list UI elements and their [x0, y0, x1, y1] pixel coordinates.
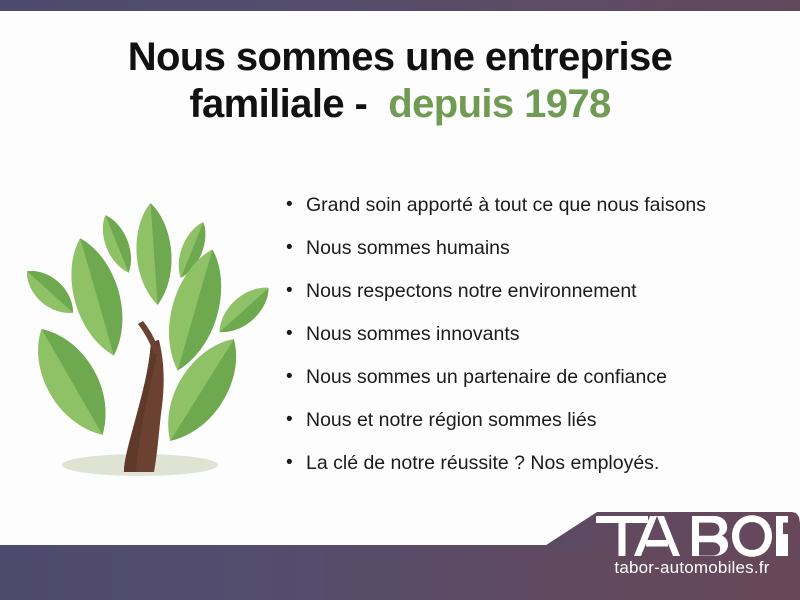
slide: Nous sommes une entreprise familiale - d…: [0, 0, 800, 600]
list-item-label: Grand soin apporté à tout ce que nous fa…: [306, 192, 706, 218]
title-dash: -: [344, 82, 378, 126]
title-line-2: familiale - depuis 1978: [0, 81, 800, 128]
bullet-marker-icon: •: [286, 192, 306, 218]
bullet-marker-icon: •: [286, 235, 306, 261]
leaf-top-center: [133, 202, 175, 306]
list-item: • Grand soin apporté à tout ce que nous …: [286, 192, 756, 235]
bullet-marker-icon: •: [286, 321, 306, 347]
list-item: • Nous sommes humains: [286, 235, 756, 278]
list-item: • Nous et notre région sommes liés: [286, 407, 756, 450]
bullet-list: • Grand soin apporté à tout ce que nous …: [286, 192, 756, 493]
title-line-1: Nous sommes une entreprise: [0, 34, 800, 81]
list-item-label: Nous et notre région sommes liés: [306, 407, 596, 433]
bullet-marker-icon: •: [286, 278, 306, 304]
list-item-label: Nous respectons notre environnement: [306, 278, 637, 304]
title-accent-text: depuis 1978: [388, 82, 610, 126]
list-item: • Nous sommes innovants: [286, 321, 756, 364]
list-item: • La clé de notre réussite ? Nos employé…: [286, 450, 756, 493]
tree-branch: [138, 321, 159, 354]
title-main-word: familiale: [189, 82, 344, 126]
page-title: Nous sommes une entreprise familiale - d…: [0, 34, 800, 128]
tabor-logo[interactable]: tabor-automobiles.fr: [596, 514, 796, 592]
bullet-marker-icon: •: [286, 450, 306, 476]
list-item-label: Nous sommes humains: [306, 235, 510, 261]
bullet-marker-icon: •: [286, 407, 306, 433]
top-accent-bar: [0, 0, 800, 11]
logo-url-text[interactable]: tabor-automobiles.fr: [596, 558, 788, 578]
list-item-label: Nous sommes innovants: [306, 321, 520, 347]
tree-illustration: [12, 182, 280, 484]
list-item: • Nous respectons notre environnement: [286, 278, 756, 321]
tabor-wordmark-icon: [596, 514, 788, 558]
list-item-label: La clé de notre réussite ? Nos employés.: [306, 450, 659, 476]
list-item: • Nous sommes un partenaire de confiance: [286, 364, 756, 407]
bullet-marker-icon: •: [286, 364, 306, 390]
list-item-label: Nous sommes un partenaire de confiance: [306, 364, 667, 390]
